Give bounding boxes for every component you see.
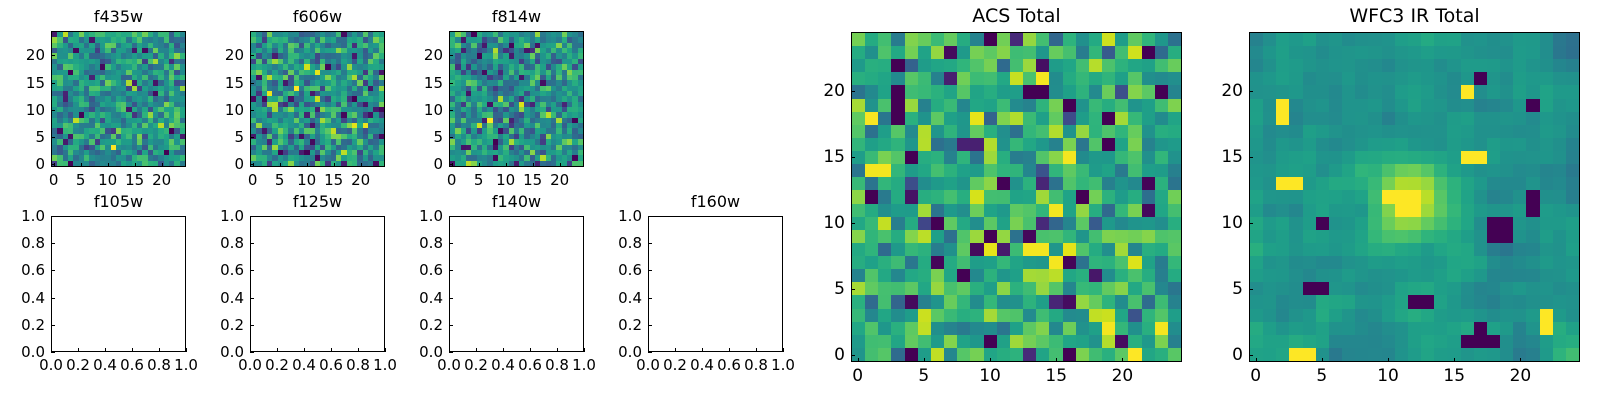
y-tick — [1249, 91, 1253, 92]
y-tick-label: 15 — [405, 74, 443, 92]
axes-f105w — [51, 216, 186, 352]
x-tick-label: 10 — [979, 366, 1001, 386]
y-tick-label: 1.0 — [600, 207, 642, 225]
y-tick — [51, 110, 55, 111]
y-tick-label: 0.6 — [202, 261, 244, 279]
x-tick-label: 1.0 — [373, 356, 397, 374]
x-tick — [1122, 358, 1123, 362]
y-tick — [250, 298, 254, 299]
y-tick — [250, 270, 254, 271]
x-tick-label: 20 — [152, 171, 171, 189]
x-tick — [1388, 358, 1389, 362]
y-tick-label: 15 — [807, 147, 845, 167]
y-tick-label: 0.0 — [600, 343, 642, 361]
x-tick-label: 0.8 — [545, 356, 569, 374]
panel-title: f105w — [51, 192, 186, 212]
x-tick — [503, 348, 504, 352]
x-tick-label: 5 — [76, 171, 86, 189]
axes-f435w — [51, 31, 186, 167]
y-tick — [1249, 157, 1253, 158]
y-tick — [250, 83, 254, 84]
y-tick-label: 0.0 — [401, 343, 443, 361]
x-tick — [334, 163, 335, 167]
panel-title: ACS Total — [851, 5, 1182, 28]
x-tick — [105, 348, 106, 352]
axes-f160w — [648, 216, 783, 352]
y-tick-label: 0.8 — [3, 234, 45, 252]
x-tick — [858, 358, 859, 362]
x-tick-label: 20 — [1510, 366, 1532, 386]
y-tick — [449, 137, 453, 138]
axes-f814w — [449, 31, 584, 167]
y-tick — [851, 91, 855, 92]
y-tick — [449, 55, 453, 56]
y-tick — [851, 223, 855, 224]
x-tick — [584, 348, 585, 352]
y-tick-label: 20 — [807, 81, 845, 101]
x-tick — [1454, 358, 1455, 362]
x-tick-label: 0.2 — [265, 356, 289, 374]
x-tick — [756, 348, 757, 352]
y-tick — [648, 216, 652, 217]
x-tick — [479, 163, 480, 167]
y-tick-label: 10 — [206, 101, 244, 119]
x-tick-label: 0 — [852, 366, 863, 386]
y-tick-label: 20 — [7, 46, 45, 64]
y-tick-label: 0.2 — [401, 316, 443, 334]
y-tick — [1249, 355, 1253, 356]
panel-title: f814w — [449, 7, 584, 27]
heatmap-image — [52, 32, 185, 166]
x-tick — [702, 348, 703, 352]
x-tick — [361, 163, 362, 167]
x-tick-label: 1.0 — [174, 356, 198, 374]
x-tick-label: 15 — [324, 171, 343, 189]
x-tick-label: 1.0 — [572, 356, 596, 374]
y-tick-label: 20 — [405, 46, 443, 64]
y-tick — [449, 164, 453, 165]
x-tick — [675, 348, 676, 352]
y-tick-label: 0 — [807, 345, 845, 365]
x-tick — [186, 348, 187, 352]
panel-title: f160w — [648, 192, 783, 212]
y-tick — [648, 243, 652, 244]
x-tick — [108, 163, 109, 167]
y-tick — [851, 289, 855, 290]
y-tick-label: 0.0 — [202, 343, 244, 361]
y-tick-label: 1.0 — [3, 207, 45, 225]
y-tick — [51, 137, 55, 138]
x-tick-label: 0.8 — [346, 356, 370, 374]
x-tick — [1056, 358, 1057, 362]
panel-title: f435w — [51, 7, 186, 27]
x-tick-label: 0.6 — [717, 356, 741, 374]
y-tick-label: 15 — [206, 74, 244, 92]
y-tick — [449, 110, 453, 111]
x-tick-label: 0.6 — [120, 356, 144, 374]
panel-title: WFC3 IR Total — [1249, 5, 1580, 28]
x-tick-label: 0.8 — [147, 356, 171, 374]
y-tick — [250, 164, 254, 165]
y-tick-label: 10 — [1205, 213, 1243, 233]
y-tick — [250, 137, 254, 138]
x-tick-label: 0 — [447, 171, 457, 189]
axes-acs-total — [851, 32, 1182, 362]
x-tick — [1256, 358, 1257, 362]
x-tick — [476, 348, 477, 352]
y-tick — [250, 55, 254, 56]
x-tick-label: 0 — [1250, 366, 1261, 386]
x-tick-label: 10 — [297, 171, 316, 189]
y-tick — [51, 55, 55, 56]
x-tick-label: 0.4 — [491, 356, 515, 374]
x-tick — [560, 163, 561, 167]
y-tick-label: 0.2 — [600, 316, 642, 334]
y-tick-label: 0.6 — [401, 261, 443, 279]
y-tick-label: 0.2 — [3, 316, 45, 334]
y-tick — [449, 270, 453, 271]
y-tick — [51, 352, 55, 353]
x-tick-label: 0 — [49, 171, 59, 189]
x-tick-label: 0.8 — [744, 356, 768, 374]
y-tick — [51, 83, 55, 84]
y-tick-label: 0.6 — [600, 261, 642, 279]
axes-f125w — [250, 216, 385, 352]
y-tick — [51, 325, 55, 326]
y-tick — [449, 352, 453, 353]
heatmap-image — [450, 32, 583, 166]
x-tick — [1520, 358, 1521, 362]
x-tick-label: 15 — [523, 171, 542, 189]
y-tick-label: 0.6 — [3, 261, 45, 279]
x-tick — [159, 348, 160, 352]
y-tick — [51, 216, 55, 217]
x-tick — [78, 348, 79, 352]
y-tick-label: 0 — [405, 155, 443, 173]
axes-f606w — [250, 31, 385, 167]
y-tick — [250, 352, 254, 353]
x-tick — [280, 163, 281, 167]
y-tick — [449, 243, 453, 244]
y-tick — [648, 352, 652, 353]
y-tick-label: 5 — [7, 128, 45, 146]
x-tick-label: 10 — [1377, 366, 1399, 386]
y-tick-label: 10 — [405, 101, 443, 119]
y-tick — [1249, 223, 1253, 224]
x-tick — [924, 358, 925, 362]
heatmap-image — [852, 33, 1181, 361]
x-tick-label: 15 — [1443, 366, 1465, 386]
x-tick-label: 0.4 — [93, 356, 117, 374]
y-tick — [51, 298, 55, 299]
y-tick-label: 0.4 — [202, 289, 244, 307]
y-tick — [851, 355, 855, 356]
panel-title: f125w — [250, 192, 385, 212]
x-tick — [990, 358, 991, 362]
x-tick-label: 10 — [98, 171, 117, 189]
x-tick-label: 5 — [275, 171, 285, 189]
x-tick-label: 0 — [248, 171, 258, 189]
y-tick-label: 20 — [206, 46, 244, 64]
axes-wfc3-ir-total — [1249, 32, 1580, 362]
x-tick — [1322, 358, 1323, 362]
x-tick — [307, 163, 308, 167]
y-tick — [449, 325, 453, 326]
y-tick — [1249, 289, 1253, 290]
x-tick-label: 15 — [1045, 366, 1067, 386]
x-tick — [385, 348, 386, 352]
x-tick-label: 0.6 — [319, 356, 343, 374]
axes-f140w — [449, 216, 584, 352]
y-tick — [51, 164, 55, 165]
y-tick — [250, 243, 254, 244]
y-tick-label: 0 — [1205, 345, 1243, 365]
x-tick — [358, 348, 359, 352]
x-tick — [304, 348, 305, 352]
x-tick — [533, 163, 534, 167]
x-tick — [783, 348, 784, 352]
y-tick — [648, 325, 652, 326]
y-tick — [648, 298, 652, 299]
y-tick — [51, 243, 55, 244]
x-tick-label: 5 — [474, 171, 484, 189]
y-tick-label: 0.8 — [600, 234, 642, 252]
y-tick-label: 5 — [405, 128, 443, 146]
y-tick-label: 0.0 — [3, 343, 45, 361]
y-tick-label: 0.4 — [3, 289, 45, 307]
x-tick-label: 0.2 — [66, 356, 90, 374]
y-tick-label: 1.0 — [202, 207, 244, 225]
x-tick — [277, 348, 278, 352]
panel-title: f140w — [449, 192, 584, 212]
x-tick-label: 0.4 — [690, 356, 714, 374]
heatmap-image — [251, 32, 384, 166]
y-tick-label: 0 — [7, 155, 45, 173]
y-tick-label: 5 — [1205, 279, 1243, 299]
x-tick — [132, 348, 133, 352]
y-tick-label: 5 — [206, 128, 244, 146]
x-tick — [135, 163, 136, 167]
y-tick-label: 20 — [1205, 81, 1243, 101]
y-tick-label: 15 — [7, 74, 45, 92]
y-tick — [51, 270, 55, 271]
y-tick-label: 1.0 — [401, 207, 443, 225]
x-tick — [506, 163, 507, 167]
y-tick-label: 0.8 — [401, 234, 443, 252]
x-tick — [81, 163, 82, 167]
x-tick-label: 0.2 — [663, 356, 687, 374]
y-tick-label: 5 — [807, 279, 845, 299]
x-tick-label: 0.4 — [292, 356, 316, 374]
y-tick-label: 10 — [807, 213, 845, 233]
y-tick — [449, 83, 453, 84]
x-tick-label: 5 — [918, 366, 929, 386]
x-tick — [530, 348, 531, 352]
y-tick — [851, 157, 855, 158]
x-tick — [162, 163, 163, 167]
panel-title: f606w — [250, 7, 385, 27]
x-tick-label: 20 — [1112, 366, 1134, 386]
heatmap-image — [1250, 33, 1579, 361]
y-tick — [449, 216, 453, 217]
x-tick-label: 5 — [1316, 366, 1327, 386]
x-tick-label: 20 — [550, 171, 569, 189]
x-tick-label: 0.2 — [464, 356, 488, 374]
x-tick-label: 10 — [496, 171, 515, 189]
y-tick-label: 0.4 — [401, 289, 443, 307]
y-tick — [250, 110, 254, 111]
y-tick — [449, 298, 453, 299]
x-tick-label: 0.6 — [518, 356, 542, 374]
y-tick-label: 15 — [1205, 147, 1243, 167]
y-tick-label: 0.8 — [202, 234, 244, 252]
x-tick-label: 15 — [125, 171, 144, 189]
y-tick — [250, 216, 254, 217]
y-tick-label: 0 — [206, 155, 244, 173]
x-tick — [557, 348, 558, 352]
x-tick — [331, 348, 332, 352]
x-tick — [729, 348, 730, 352]
y-tick — [250, 325, 254, 326]
y-tick-label: 0.4 — [600, 289, 642, 307]
y-tick-label: 0.2 — [202, 316, 244, 334]
y-tick — [648, 270, 652, 271]
y-tick-label: 10 — [7, 101, 45, 119]
x-tick-label: 20 — [351, 171, 370, 189]
x-tick-label: 1.0 — [771, 356, 795, 374]
